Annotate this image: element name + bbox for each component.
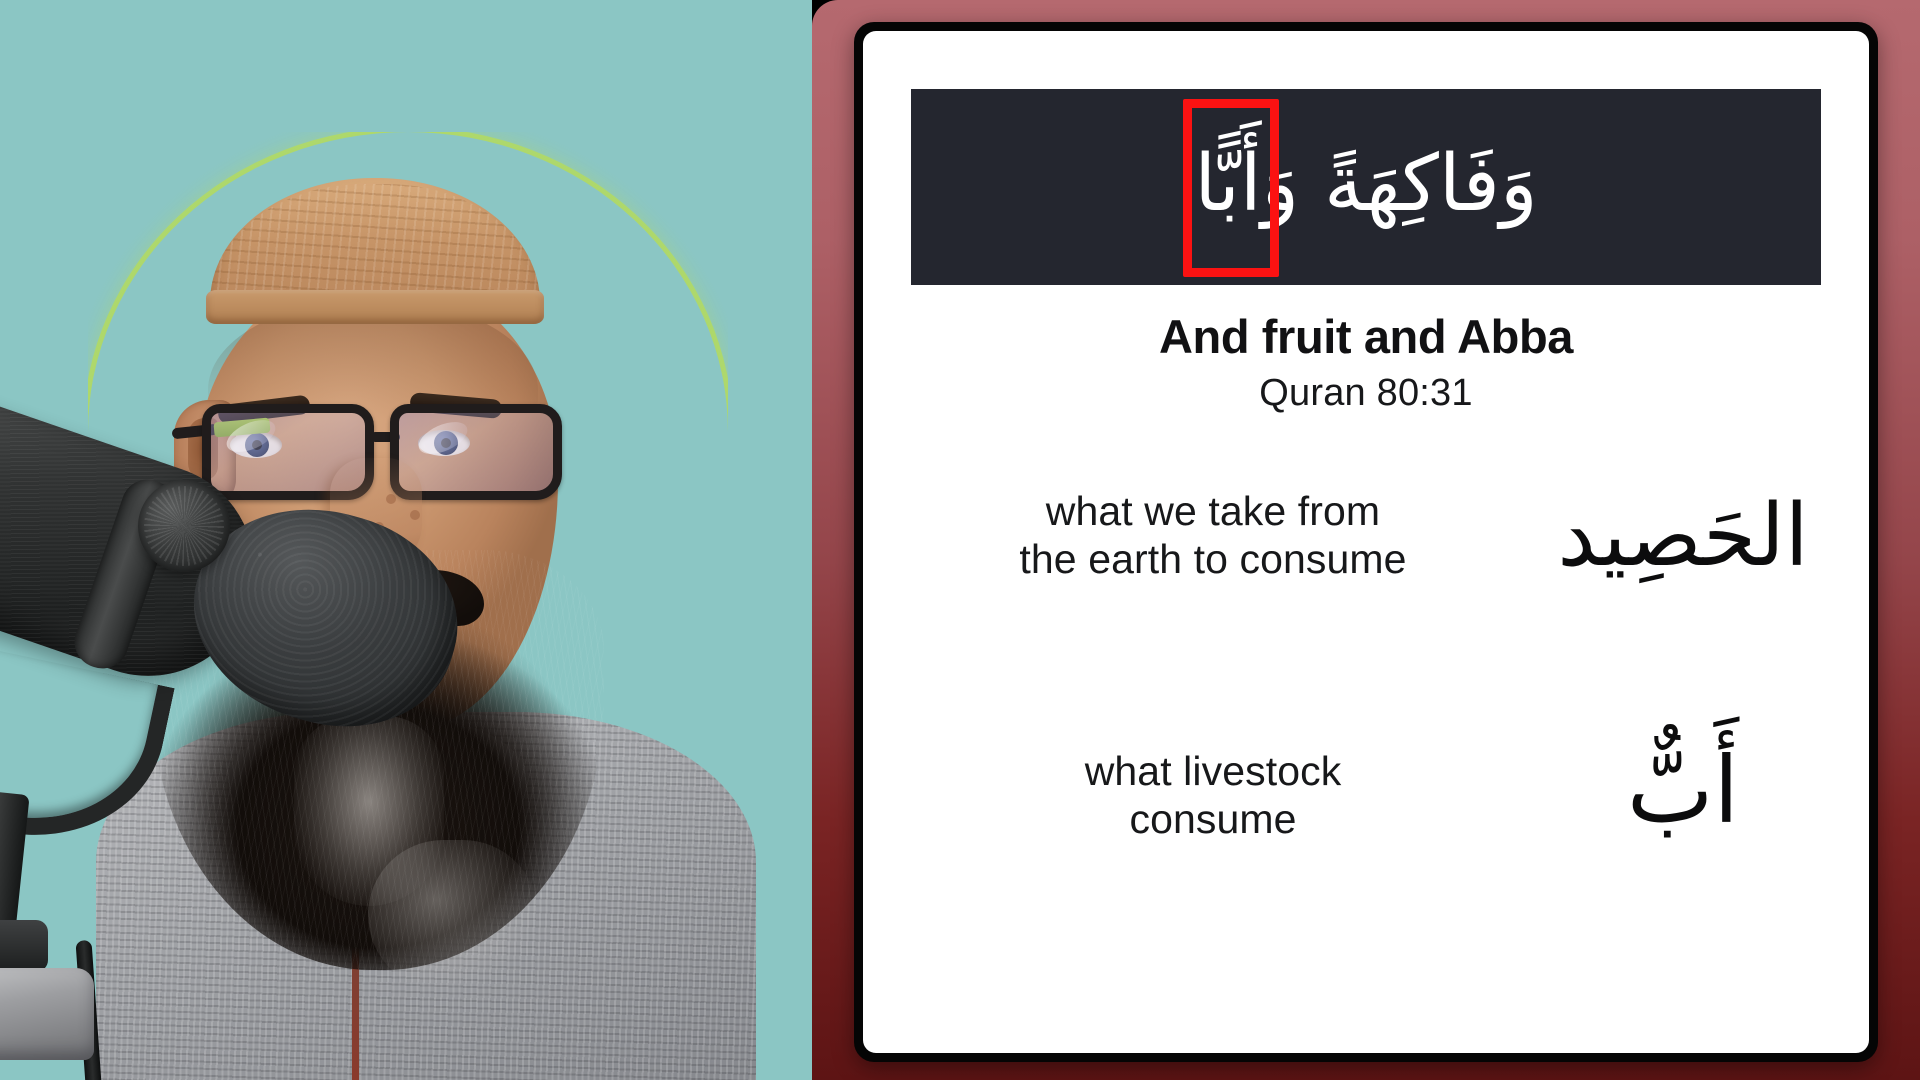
ayah-arabic-text: وَفَاكِهَةً وَأَبًّا <box>1194 145 1537 229</box>
translation-title: And fruit and Abba <box>863 309 1869 364</box>
microphone-icon <box>0 420 440 1080</box>
gloss-arabic: أَبٌّ <box>1533 745 1833 847</box>
microphone-knob-ridges <box>144 486 224 566</box>
quran-reference: Quran 80:31 <box>863 372 1869 415</box>
gloss-english: what we take from the earth to consume <box>903 488 1523 583</box>
slide-card-border: وَفَاكِهَةً وَأَبًّا And fruit and Abba … <box>854 22 1878 1062</box>
microphone-knob <box>138 480 230 572</box>
gloss-row: what we take from the earth to consume ا… <box>903 461 1833 611</box>
gloss-arabic: الحَصِيد <box>1533 493 1833 579</box>
speaker-figure <box>0 0 812 1080</box>
translation-block: And fruit and Abba Quran 80:31 <box>863 309 1869 415</box>
microphone-stem-collar <box>0 920 48 972</box>
screenshot-stage: وَفَاكِهَةً وَأَبًّا And fruit and Abba … <box>0 0 1920 1080</box>
kufi-cap-band <box>206 290 544 324</box>
gloss-row: what livestock consume أَبٌّ <box>903 711 1833 881</box>
ayah-band: وَفَاكِهَةً وَأَبًّا <box>911 89 1821 285</box>
slide-card: وَفَاكِهَةً وَأَبًّا And fruit and Abba … <box>863 31 1869 1053</box>
microphone-base <box>0 968 94 1060</box>
slide-frame: وَفَاكِهَةً وَأَبًّا And fruit and Abba … <box>812 0 1920 1080</box>
speaker-video-panel <box>0 0 812 1080</box>
gloss-english: what livestock consume <box>903 748 1523 843</box>
